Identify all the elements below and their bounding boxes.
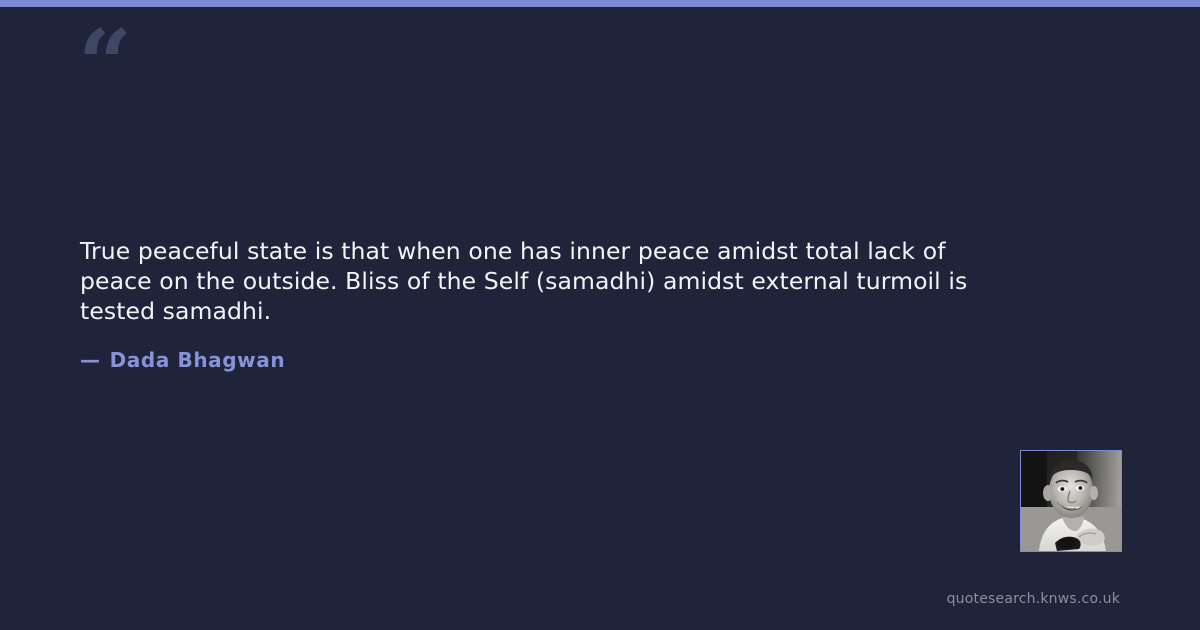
author-portrait-image [1021, 451, 1121, 551]
open-quote-icon: “ [78, 18, 130, 112]
quote-text: True peaceful state is that when one has… [80, 236, 980, 326]
author-portrait [1020, 450, 1122, 552]
quote-attribution: —Dada Bhagwan [80, 348, 285, 372]
quote-card: “ True peaceful state is that when one h… [0, 0, 1200, 630]
em-dash-separator: — [80, 348, 101, 372]
top-accent-bar [0, 0, 1200, 7]
watermark-source: quotesearch.knws.co.uk [947, 591, 1120, 607]
author-name: Dada Bhagwan [110, 348, 286, 372]
